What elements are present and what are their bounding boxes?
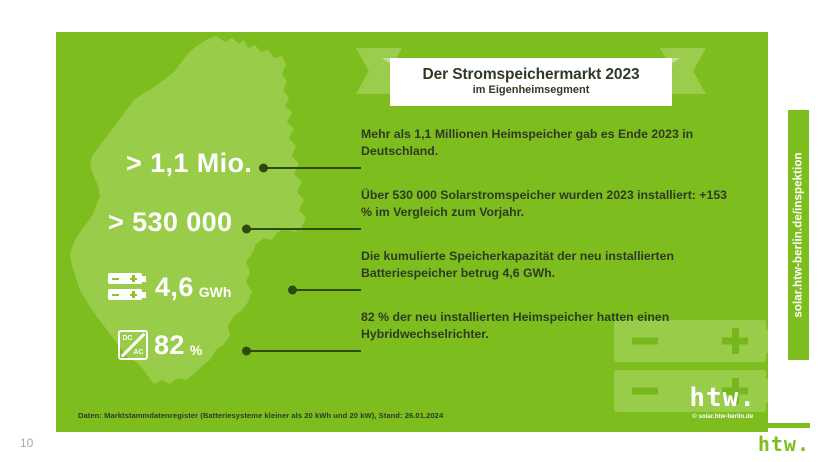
banner-body: Der Stromspeichermarkt 2023 im Eigenheim… bbox=[390, 58, 672, 106]
battery-cap bbox=[142, 276, 146, 282]
connector-line-4 bbox=[246, 350, 361, 352]
stat-speicherkapazitaet: 4,6 GWh bbox=[108, 272, 231, 302]
connector-line-3 bbox=[292, 289, 361, 291]
stat-value: 82 bbox=[154, 332, 185, 359]
htw-logo-mark: htw. bbox=[689, 385, 756, 411]
stat-value: > 530 000 bbox=[108, 209, 232, 236]
title-banner: Der Stromspeichermarkt 2023 im Eigenheim… bbox=[356, 36, 706, 106]
battery-double-icon bbox=[108, 272, 148, 302]
battery-minus-icon bbox=[112, 294, 119, 296]
htw-logo-caption: © solar.htw-berlin.de bbox=[689, 413, 756, 420]
battery-minus-icon bbox=[112, 278, 119, 280]
connector-dot bbox=[242, 347, 251, 356]
battery-row-bottom bbox=[108, 289, 142, 300]
connector-line-1 bbox=[263, 167, 361, 169]
battery-minus-icon bbox=[632, 388, 658, 395]
battery-plus-icon-vertical bbox=[132, 291, 134, 298]
source-note: Daten: Marktstammdatenregister (Batterie… bbox=[78, 411, 443, 420]
banner-subtitle: im Eigenheimsegment bbox=[473, 84, 590, 96]
battery-plus-icon-vertical bbox=[132, 275, 134, 282]
htw-logo: htw. © solar.htw-berlin.de bbox=[689, 385, 756, 420]
slide-root: Der Stromspeichermarkt 2023 im Eigenheim… bbox=[0, 0, 823, 462]
corner-logo-bar bbox=[764, 423, 810, 428]
banner-title: Der Stromspeichermarkt 2023 bbox=[423, 66, 640, 84]
connector-line-2 bbox=[246, 228, 361, 230]
stat-value: 4,6 bbox=[155, 274, 194, 301]
stat-unit: GWh bbox=[199, 284, 232, 302]
inverter-dc-label: DC bbox=[123, 335, 133, 342]
infographic-panel: Der Stromspeichermarkt 2023 im Eigenheim… bbox=[56, 32, 768, 432]
battery-cap bbox=[766, 379, 768, 403]
stat-neu-installiert: > 530 000 bbox=[108, 209, 232, 236]
url-sidebar-text: solar.htw-berlin.de/inspektion bbox=[793, 152, 805, 317]
connector-dot bbox=[259, 164, 268, 173]
description-paragraph-4: 82 % der neu installierten Heimspeicher … bbox=[361, 309, 731, 344]
url-sidebar-tab[interactable]: solar.htw-berlin.de/inspektion bbox=[788, 110, 809, 360]
stat-hybridwechselrichter: DC AC 82 % bbox=[118, 330, 202, 360]
stat-value: > 1,1 Mio. bbox=[126, 150, 252, 177]
battery-cap bbox=[142, 292, 146, 298]
connector-dot bbox=[288, 286, 297, 295]
connector-dot bbox=[242, 225, 251, 234]
battery-plus-icon-vertical bbox=[732, 328, 739, 354]
corner-htw-logo: htw. bbox=[758, 434, 810, 454]
stat-unit: % bbox=[190, 342, 202, 360]
stat-heimspeicher-total: > 1,1 Mio. bbox=[126, 150, 252, 177]
dc-ac-inverter-icon: DC AC bbox=[118, 330, 148, 360]
inverter-ac-label: AC bbox=[133, 349, 143, 356]
description-paragraph-3: Die kumulierte Speicherkapazität der neu… bbox=[361, 248, 731, 283]
page-number: 10 bbox=[20, 436, 33, 450]
battery-cap bbox=[766, 329, 768, 353]
battery-row-top bbox=[108, 273, 142, 284]
description-paragraph-2: Über 530 000 Solarstromspeicher wurden 2… bbox=[361, 187, 731, 222]
description-paragraph-1: Mehr als 1,1 Millionen Heimspeicher gab … bbox=[361, 126, 731, 161]
